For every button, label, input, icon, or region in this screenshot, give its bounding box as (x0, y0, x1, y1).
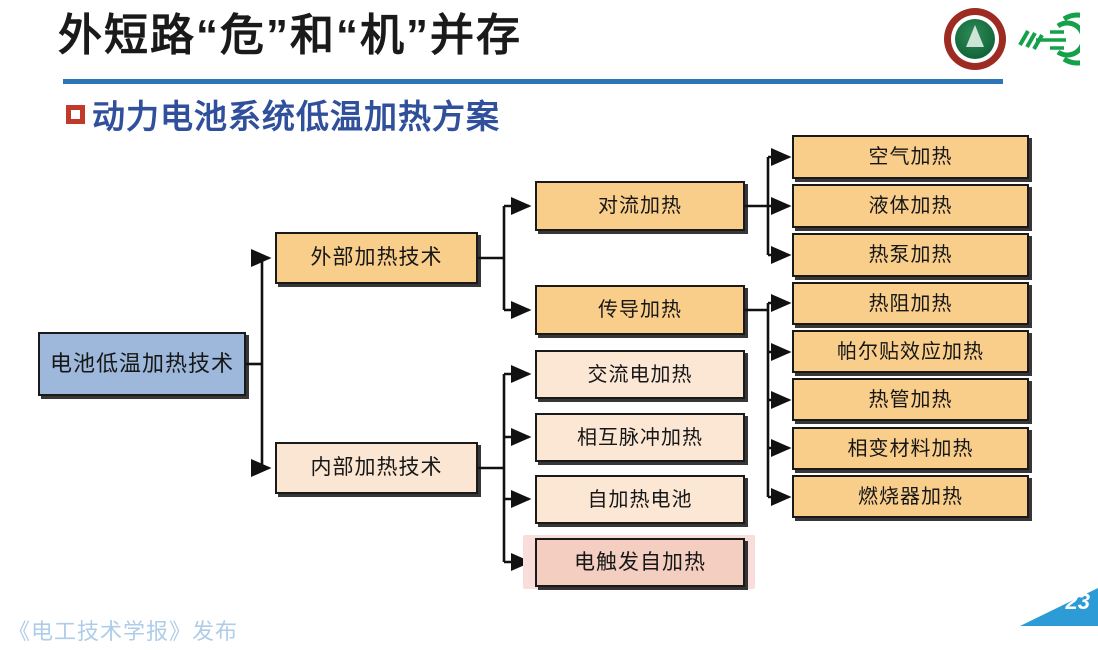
heating-technology-tree-diagram: 电池低温加热技术 外部加热技术 内部加热技术 对流加热 传导加热 交流电加热 相… (0, 0, 1098, 650)
node-conduction-heating[interactable]: 传导加热 (535, 285, 745, 335)
node-label: 相变材料加热 (848, 437, 974, 461)
node-label: 空气加热 (869, 145, 953, 169)
node-electric-trigger-self-heating[interactable]: 电触发自加热 (535, 538, 745, 587)
node-internal-heating-tech[interactable]: 内部加热技术 (275, 442, 478, 494)
node-label: 帕尔贴效应加热 (837, 340, 984, 364)
page-number-corner: 23 (1020, 588, 1098, 626)
node-peltier-effect-heating[interactable]: 帕尔贴效应加热 (792, 330, 1029, 373)
node-label: 液体加热 (869, 194, 953, 218)
node-label: 电池低温加热技术 (50, 351, 234, 377)
node-mutual-pulse-heating[interactable]: 相互脉冲加热 (535, 413, 745, 462)
node-liquid-heating[interactable]: 液体加热 (792, 184, 1029, 228)
footer-publisher-note: 《电工技术学报》发布 (8, 614, 238, 646)
node-heat-pipe-heating[interactable]: 热管加热 (792, 378, 1029, 421)
page-number: 23 (1066, 589, 1090, 615)
node-air-heating[interactable]: 空气加热 (792, 135, 1029, 179)
node-ac-electric-heating[interactable]: 交流电加热 (535, 350, 745, 399)
node-label: 内部加热技术 (311, 455, 443, 480)
node-label: 自加热电池 (588, 488, 693, 512)
node-label: 对流加热 (598, 194, 682, 218)
node-label: 燃烧器加热 (858, 485, 963, 509)
slide-canvas: 外短路“危”和“机”并存 动力电池系统低温加热方案 (0, 0, 1098, 650)
node-label: 电触发自加热 (574, 550, 706, 575)
node-label: 热管加热 (869, 388, 953, 412)
node-external-heating-tech[interactable]: 外部加热技术 (275, 232, 478, 284)
node-root-battery-low-temp-heating[interactable]: 电池低温加热技术 (38, 332, 246, 396)
node-label: 传导加热 (598, 298, 682, 322)
node-label: 热泵加热 (869, 243, 953, 267)
node-thermal-resistance-heating[interactable]: 热阻加热 (792, 282, 1029, 325)
node-heat-pump-heating[interactable]: 热泵加热 (792, 233, 1029, 277)
node-label: 外部加热技术 (311, 245, 443, 270)
node-phase-change-material-heating[interactable]: 相变材料加热 (792, 427, 1029, 470)
node-label: 热阻加热 (869, 292, 953, 316)
node-label: 相互脉冲加热 (577, 426, 703, 450)
node-label: 交流电加热 (588, 363, 693, 387)
node-burner-heating[interactable]: 燃烧器加热 (792, 475, 1029, 518)
node-self-heating-battery[interactable]: 自加热电池 (535, 475, 745, 524)
node-convection-heating[interactable]: 对流加热 (535, 181, 745, 231)
